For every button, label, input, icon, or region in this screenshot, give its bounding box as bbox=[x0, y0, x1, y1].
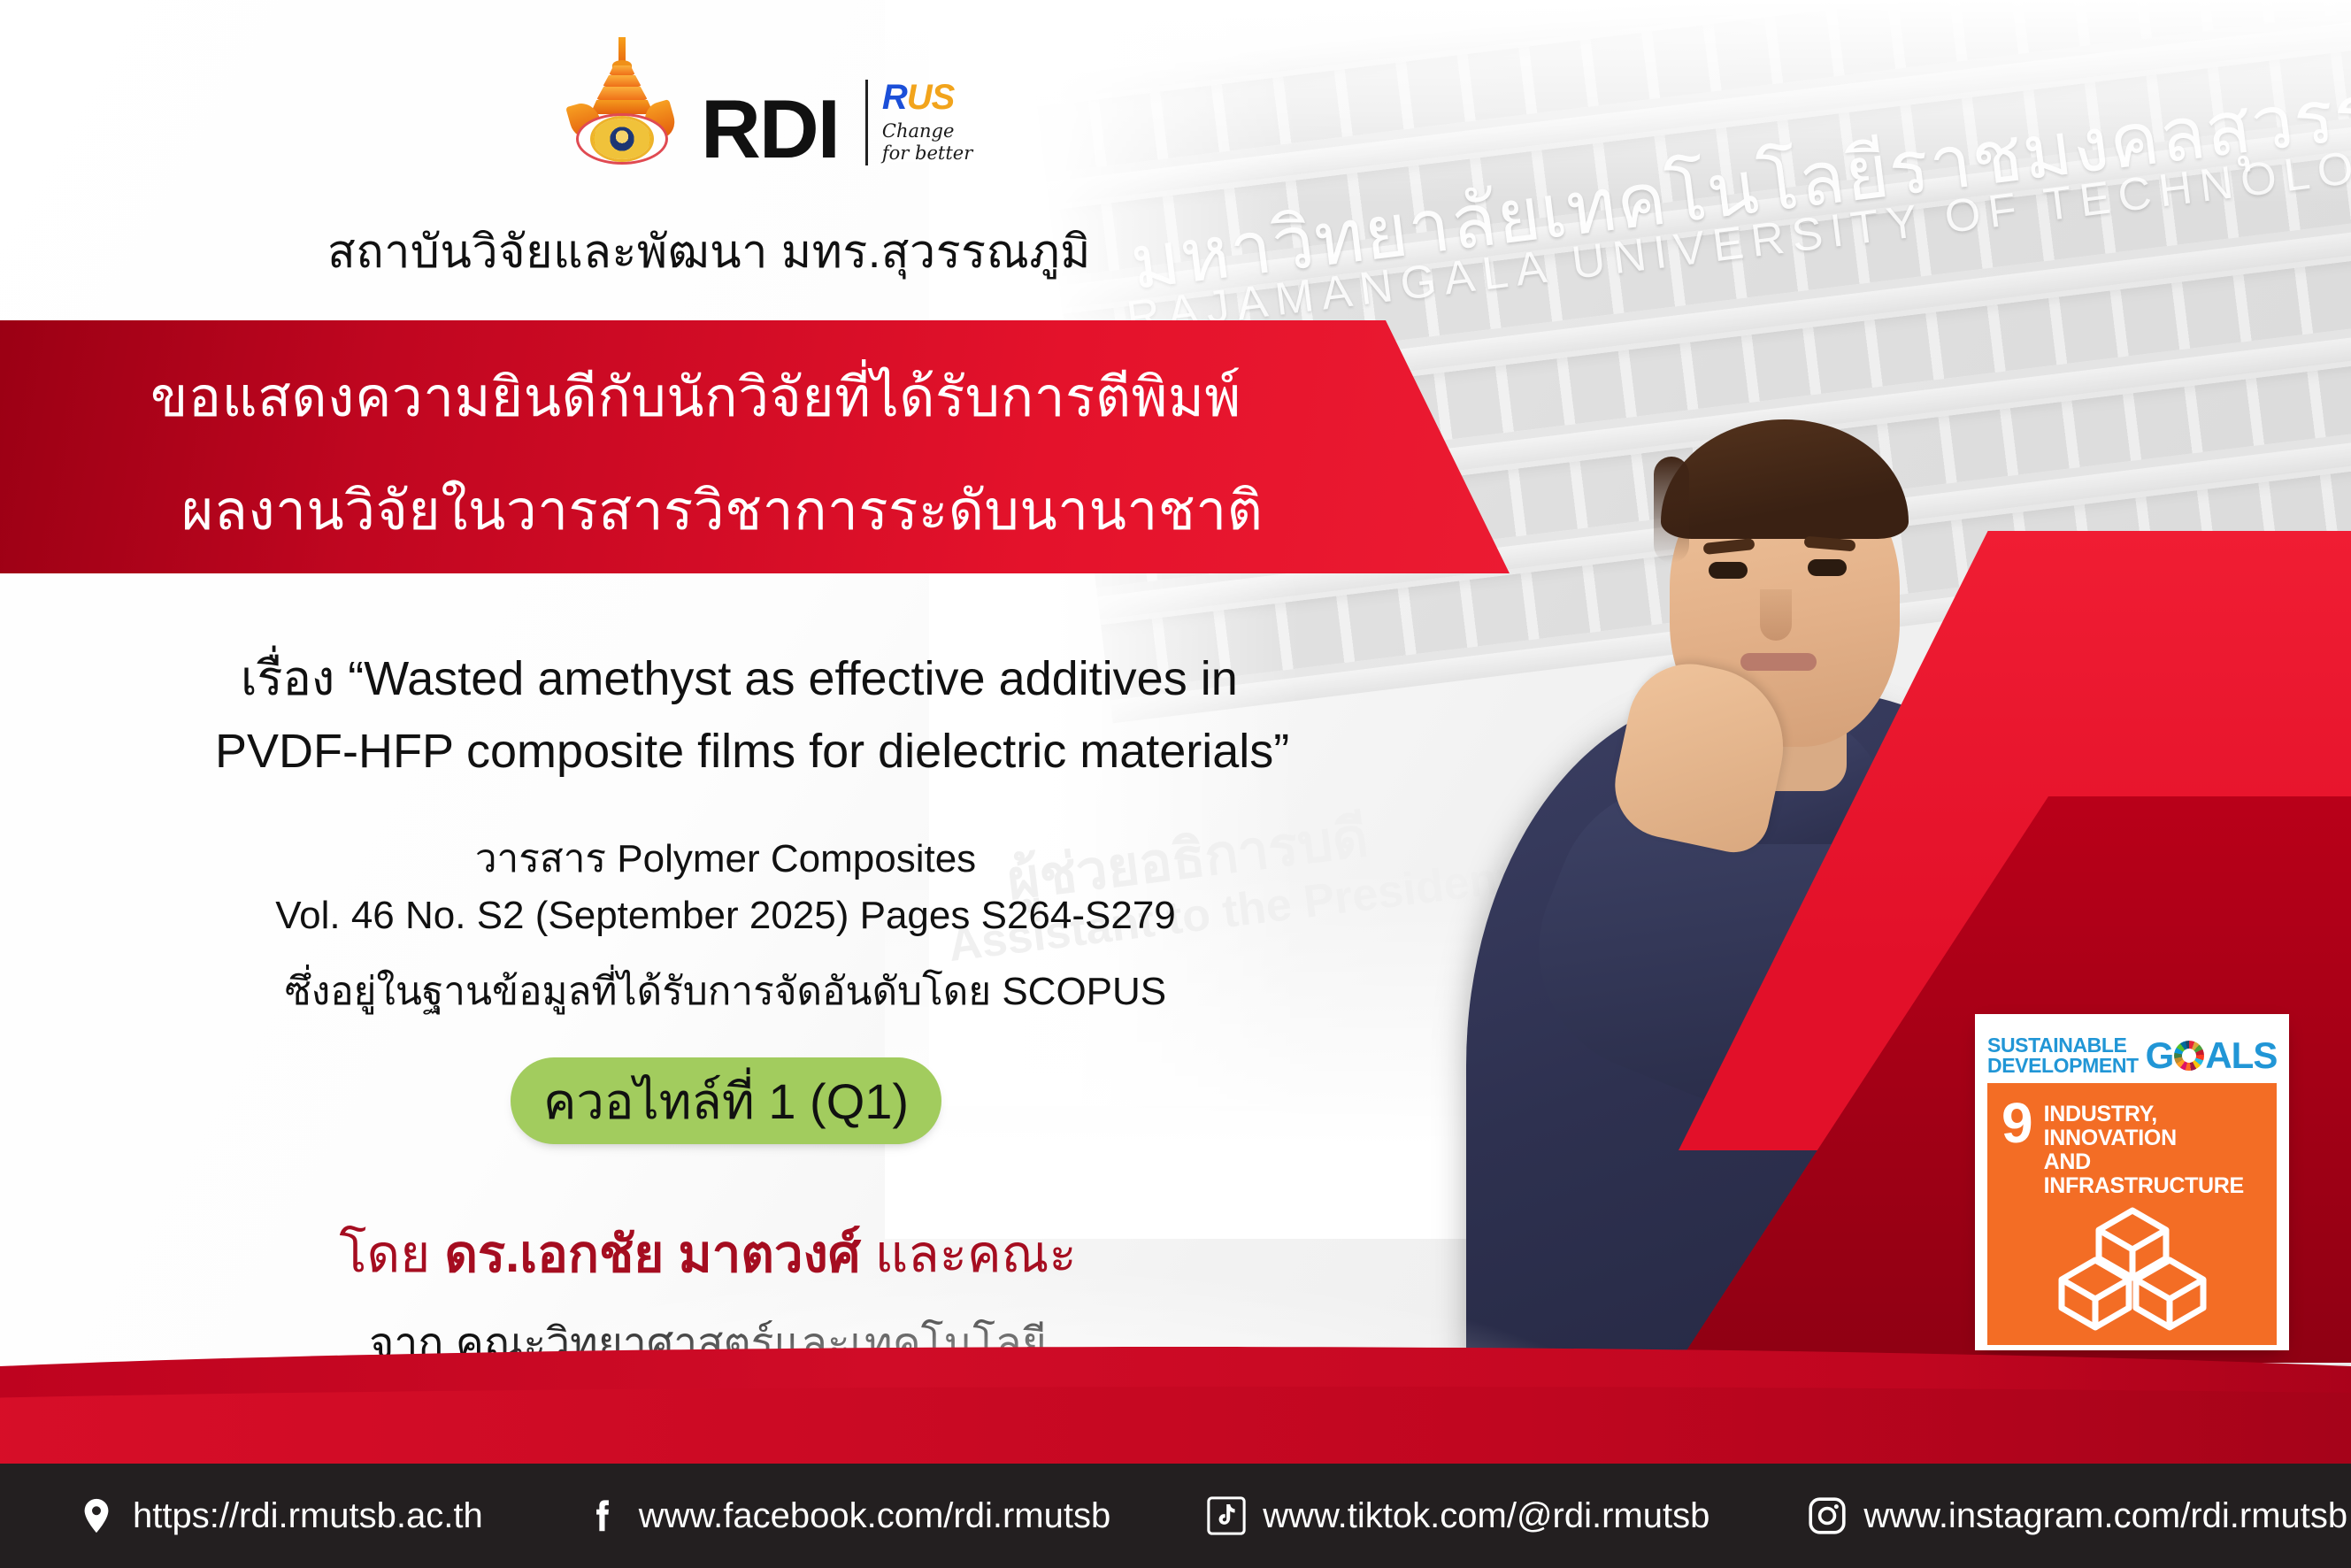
sdg-head-line1: SUSTAINABLE bbox=[1987, 1035, 2139, 1056]
banner-headline-line1: ขอแสดงความยินดีกับนักวิจัยที่ได้รับการตี… bbox=[150, 354, 1241, 441]
sdg-goal-number: 9 bbox=[2001, 1099, 2033, 1148]
sdg-goals-g: G bbox=[2146, 1034, 2174, 1077]
facebook-icon bbox=[582, 1495, 623, 1536]
sdg-goals-als: ALS bbox=[2205, 1034, 2277, 1077]
footer-facebook-link[interactable]: www.facebook.com/rdi.rmutsb bbox=[582, 1495, 1111, 1536]
sdg-color-wheel-icon bbox=[2174, 1041, 2204, 1071]
instagram-icon bbox=[1807, 1495, 1848, 1536]
author-by-prefix: โดย bbox=[339, 1226, 444, 1283]
sdg-head-line2: DEVELOPMENT bbox=[1987, 1056, 2139, 1076]
rdi-logo: RDI RUS Change for better bbox=[566, 37, 972, 165]
quartile-badge: ควอไทล์ที่ 1 (Q1) bbox=[511, 1057, 941, 1144]
footer-tiktok-text: www.tiktok.com/@rdi.rmutsb bbox=[1263, 1496, 1709, 1536]
footer-website-link[interactable]: https://rdi.rmutsb.ac.th bbox=[76, 1495, 483, 1536]
journal-name: วารสาร Polymer Composites bbox=[0, 827, 1451, 889]
footer-instagram-link[interactable]: www.instagram.com/rdi.rmutsb bbox=[1807, 1495, 2347, 1536]
sdg-goal-label-line1: INDUSTRY, INNOVATION bbox=[2044, 1103, 2263, 1150]
tagline-line2: for better bbox=[882, 142, 972, 165]
organization-name: สถาบันวิจัยและพัฒนา มทร.สุวรรณภูมิ bbox=[327, 214, 1091, 288]
banner-headline-line2: ผลงานวิจัยในวารสารวิชาการระดับนานาชาติ bbox=[181, 467, 1263, 554]
sdg-header: SUSTAINABLE DEVELOPMENT G ALS bbox=[1987, 1028, 2277, 1083]
footer-website-text: https://rdi.rmutsb.ac.th bbox=[133, 1496, 483, 1536]
tagline-line1: Change bbox=[882, 120, 972, 143]
article-title-prefix: เรื่อง bbox=[241, 652, 334, 705]
industry-cubes-icon bbox=[2053, 1203, 2212, 1336]
scopus-database-note: ซึ่งอยู่ในฐานข้อมูลที่ได้รับการจัดอันดับ… bbox=[0, 960, 1451, 1022]
rus-r-letter: R bbox=[882, 78, 907, 117]
rdi-wordmark: RDI bbox=[701, 94, 839, 165]
rmutsb-emblem-icon bbox=[566, 37, 678, 165]
footer-facebook-text: www.facebook.com/rdi.rmutsb bbox=[639, 1496, 1111, 1536]
article-title-line1: เรื่อง “Wasted amethyst as effective add… bbox=[241, 640, 1238, 716]
footer-tiktok-link[interactable]: www.tiktok.com/@rdi.rmutsb bbox=[1206, 1495, 1709, 1536]
footer-bar: https://rdi.rmutsb.ac.th www.facebook.co… bbox=[0, 1464, 2351, 1568]
rus-sublogo: RUS Change for better bbox=[865, 80, 972, 165]
poster-canvas: มหาวิทยาลัยเทคโนโลยีราชมงคลสุวรรณภูมิ RA… bbox=[0, 0, 2351, 1568]
rus-us-letters: US bbox=[907, 78, 955, 117]
tiktok-icon bbox=[1206, 1495, 1247, 1536]
red-wave-shape-secondary bbox=[0, 1387, 2351, 1471]
sdg-goal-9-panel: 9 INDUSTRY, INNOVATION AND INFRASTRUCTUR… bbox=[1987, 1083, 2277, 1345]
location-pin-icon bbox=[76, 1495, 117, 1536]
sdg-goal-label-line2: AND INFRASTRUCTURE bbox=[2044, 1150, 2263, 1198]
article-title-text-line1: “Wasted amethyst as effective additives … bbox=[348, 652, 1237, 705]
sdg-badge: SUSTAINABLE DEVELOPMENT G ALS 9 INDUSTRY… bbox=[1975, 1014, 2289, 1350]
article-title-line2: PVDF-HFP composite films for dielectric … bbox=[215, 724, 1289, 779]
footer-instagram-text: www.instagram.com/rdi.rmutsb bbox=[1863, 1496, 2347, 1536]
journal-volume: Vol. 46 No. S2 (September 2025) Pages S2… bbox=[0, 894, 1451, 938]
